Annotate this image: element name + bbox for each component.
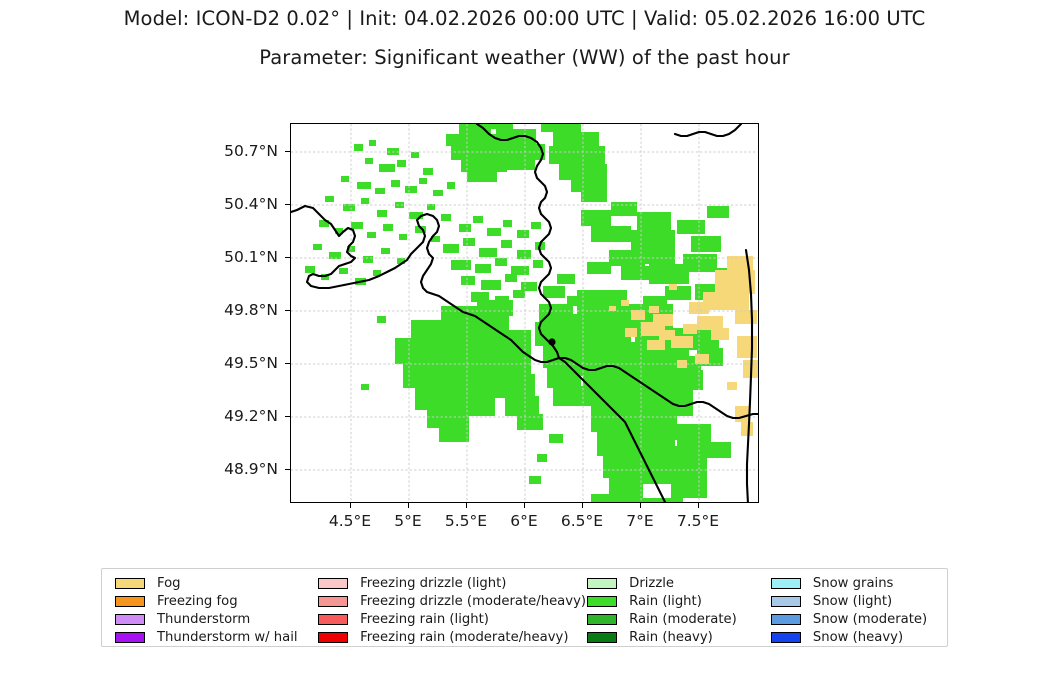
legend-label: Drizzle: [629, 576, 674, 591]
legend-label: Freezing drizzle (light): [360, 576, 506, 591]
xtick-label-1: 5°E: [394, 512, 421, 530]
legend-swatch-freezing-fog-icon: [115, 596, 145, 607]
legend-item-freezing-drizzle-moderate-heavy[interactable]: Freezing drizzle (moderate/heavy): [318, 593, 572, 611]
xtick-mark-6: [698, 503, 699, 508]
legend-item-snow-grains[interactable]: Snow grains: [771, 575, 947, 593]
ytick-mark-4: [285, 363, 290, 364]
city-marker-layer: [291, 124, 758, 502]
legend-column-1: Freezing drizzle (light) Freezing drizzl…: [303, 575, 572, 646]
xtick-mark-3: [524, 503, 525, 508]
xtick-mark-0: [350, 503, 351, 508]
ytick-label-5: 49.2°N: [224, 407, 278, 425]
legend-item-rain-light[interactable]: Rain (light): [587, 593, 756, 611]
ytick-label-1: 50.4°N: [224, 195, 278, 213]
legend-swatch-rain-heavy-icon: [587, 632, 617, 643]
xtick-mark-4: [582, 503, 583, 508]
legend-swatch-rain-moderate-icon: [587, 614, 617, 625]
legend-label: Snow (heavy): [813, 630, 903, 645]
xtick-label-0: 4.5°E: [329, 512, 371, 530]
ytick-label-6: 48.9°N: [224, 460, 278, 478]
legend-swatch-freezing-drizzle-light-icon: [318, 578, 348, 589]
ytick-mark-2: [285, 257, 290, 258]
ytick-label-2: 50.1°N: [224, 248, 278, 266]
page-title: Model: ICON-D2 0.02° | Init: 04.02.2026 …: [0, 7, 1049, 30]
legend-item-freezing-drizzle-light[interactable]: Freezing drizzle (light): [318, 575, 572, 593]
legend-label: Freezing rain (light): [360, 612, 489, 627]
legend-label: Thunderstorm: [157, 612, 250, 627]
legend-label: Thunderstorm w/ hail: [157, 630, 298, 645]
chart-titles: Model: ICON-D2 0.02° | Init: 04.02.2026 …: [0, 0, 1049, 69]
legend-swatch-rain-light-icon: [587, 596, 617, 607]
xtick-mark-5: [640, 503, 641, 508]
legend-swatch-drizzle-icon: [587, 578, 617, 589]
legend-swatch-snow-moderate-icon: [771, 614, 801, 625]
legend-item-thunderstorm[interactable]: Thunderstorm: [115, 611, 303, 629]
legend-item-rain-heavy[interactable]: Rain (heavy): [587, 628, 756, 646]
legend-column-2: Drizzle Rain (light) Rain (moderate) Rai…: [572, 575, 756, 646]
xtick-mark-2: [466, 503, 467, 508]
legend-swatch-freezing-drizzle-moderate-heavy-icon: [318, 596, 348, 607]
xtick-label-5: 7°E: [626, 512, 653, 530]
legend-swatch-freezing-rain-light-icon: [318, 614, 348, 625]
legend-label: Freezing rain (moderate/heavy): [360, 630, 568, 645]
legend-label: Fog: [157, 576, 181, 591]
legend-item-snow-heavy[interactable]: Snow (heavy): [771, 628, 947, 646]
ytick-mark-3: [285, 310, 290, 311]
legend-label: Rain (heavy): [629, 630, 713, 645]
map-plot-area[interactable]: [290, 123, 759, 503]
ytick-label-4: 49.5°N: [224, 354, 278, 372]
xtick-label-4: 6.5°E: [561, 512, 603, 530]
legend-item-snow-moderate[interactable]: Snow (moderate): [771, 611, 947, 629]
ytick-mark-0: [285, 151, 290, 152]
legend-label: Rain (moderate): [629, 612, 737, 627]
legend-item-rain-moderate[interactable]: Rain (moderate): [587, 611, 756, 629]
page-subtitle: Parameter: Significant weather (WW) of t…: [0, 46, 1049, 69]
legend-label: Freezing drizzle (moderate/heavy): [360, 594, 586, 609]
legend-item-thunderstorm-hail[interactable]: Thunderstorm w/ hail: [115, 628, 303, 646]
xtick-mark-1: [408, 503, 409, 508]
legend-item-freezing-fog[interactable]: Freezing fog: [115, 593, 303, 611]
legend-item-drizzle[interactable]: Drizzle: [587, 575, 756, 593]
weather-legend: Fog Freezing fog Thunderstorm Thundersto…: [101, 568, 948, 647]
ytick-label-3: 49.8°N: [224, 301, 278, 319]
legend-swatch-snow-grains-icon: [771, 578, 801, 589]
ytick-label-0: 50.7°N: [224, 142, 278, 160]
ytick-mark-5: [285, 416, 290, 417]
xtick-label-6: 7.5°E: [677, 512, 719, 530]
legend-swatch-fog-icon: [115, 578, 145, 589]
legend-item-freezing-rain-light[interactable]: Freezing rain (light): [318, 611, 572, 629]
legend-swatch-thunderstorm-icon: [115, 614, 145, 625]
ytick-mark-6: [285, 469, 290, 470]
legend-item-snow-light[interactable]: Snow (light): [771, 593, 947, 611]
legend-column-0: Fog Freezing fog Thunderstorm Thundersto…: [102, 575, 303, 646]
legend-item-freezing-rain-moderate-heavy[interactable]: Freezing rain (moderate/heavy): [318, 628, 572, 646]
xtick-label-3: 6°E: [510, 512, 537, 530]
legend-swatch-thunderstorm-hail-icon: [115, 632, 145, 643]
ytick-mark-1: [285, 204, 290, 205]
legend-label: Snow (moderate): [813, 612, 927, 627]
legend-label: Freezing fog: [157, 594, 238, 609]
legend-swatch-snow-light-icon: [771, 596, 801, 607]
legend-item-fog[interactable]: Fog: [115, 575, 303, 593]
legend-label: Snow (light): [813, 594, 892, 609]
legend-swatch-snow-heavy-icon: [771, 632, 801, 643]
weather-map-figure: 50.7°N 50.4°N 50.1°N 49.8°N 49.5°N 49.2°…: [290, 123, 759, 503]
legend-swatch-freezing-rain-moderate-heavy-icon: [318, 632, 348, 643]
city-marker: [548, 338, 555, 345]
xtick-label-2: 5.5°E: [445, 512, 487, 530]
legend-label: Snow grains: [813, 576, 894, 591]
legend-label: Rain (light): [629, 594, 702, 609]
legend-column-3: Snow grains Snow (light) Snow (moderate)…: [756, 575, 947, 646]
